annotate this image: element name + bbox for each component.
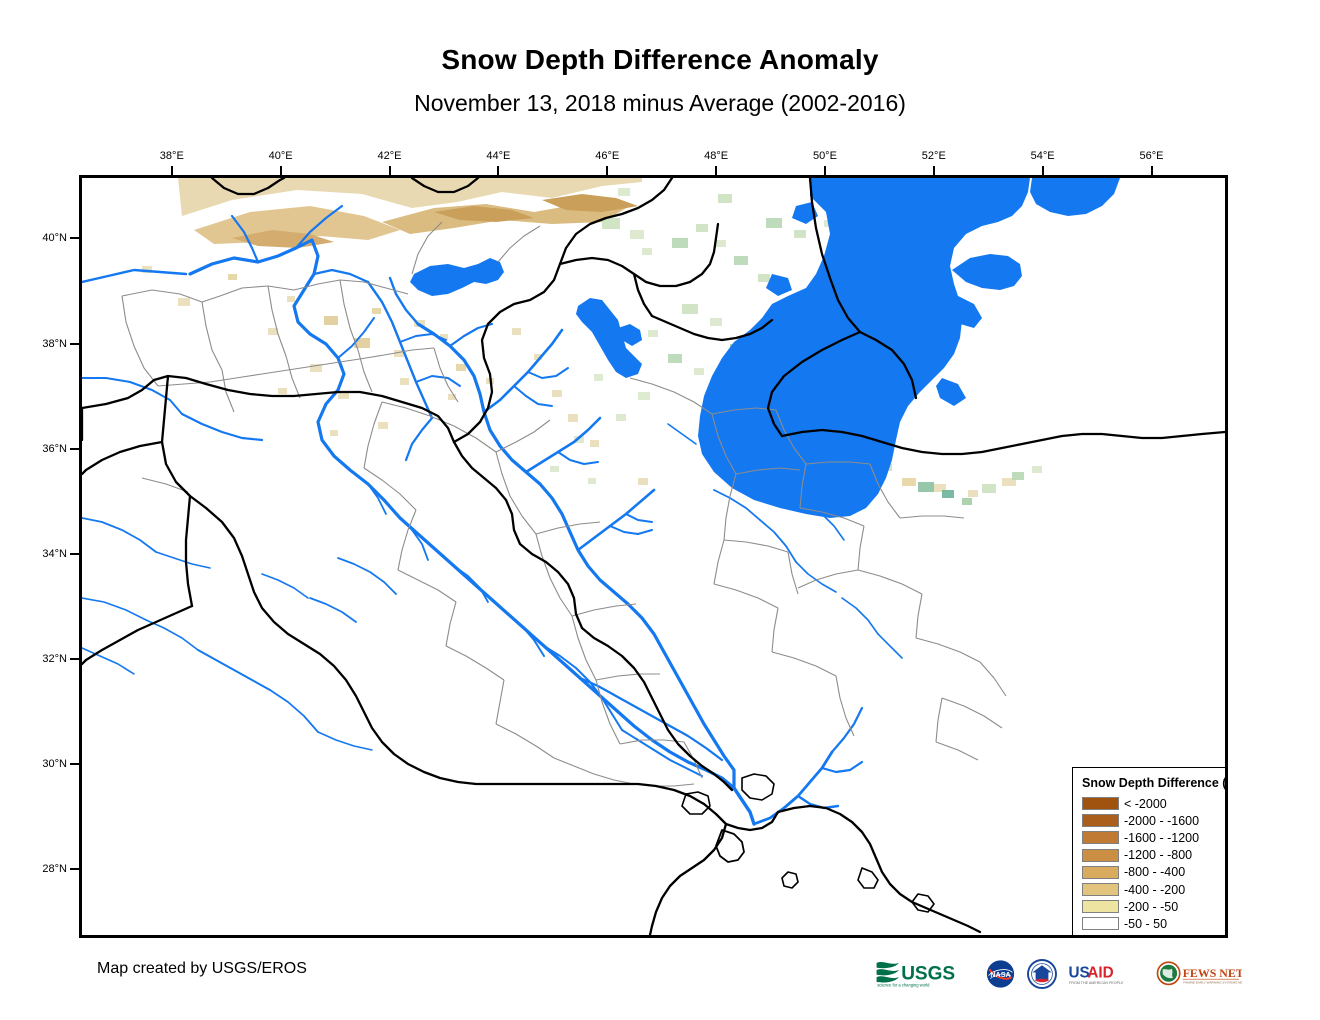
legend-swatch [1082,814,1119,827]
svg-text:NASA: NASA [990,970,1010,979]
longitude-label: 48°E [704,150,728,162]
latitude-label: 36°N [21,443,67,455]
legend-swatch [1082,849,1119,862]
longitude-label: 46°E [595,150,619,162]
legend-label: -800 - -400 [1124,865,1185,879]
nasa-logo[interactable]: NASA [984,958,1017,990]
latitude-tick [70,553,79,555]
longitude-tick [280,166,282,175]
map-canvas[interactable] [82,178,1225,935]
longitude-tick [171,166,173,175]
legend-label: 50 - 200 [1124,934,1170,938]
legend-label: < -2000 [1124,797,1167,811]
longitude-tick [1151,166,1153,175]
legend-title: Snow Depth Difference (mm) [1082,776,1228,790]
svg-text:USGS: USGS [901,964,955,985]
legend-row[interactable]: -800 - -400 [1082,864,1228,881]
usaid-logo[interactable]: US AID FROM THE AMERICAN PEOPLE [1067,958,1147,990]
latitude-label: 38°N [21,338,67,350]
legend-row[interactable]: 50 - 200 [1082,933,1228,939]
legend-row[interactable]: -2000 - -1600 [1082,812,1228,829]
logo-bar: USGS science for a changing world NASA U… [875,957,1242,991]
legend-label: -400 - -200 [1124,883,1185,897]
legend-row[interactable]: < -2000 [1082,795,1228,812]
map-frame[interactable]: Snow Depth Difference (mm) < -2000-2000 … [79,175,1228,938]
legend-label: -1200 - -800 [1124,848,1192,862]
latitude-tick [70,448,79,450]
longitude-label: 42°E [378,150,402,162]
legend-label: -1600 - -1200 [1124,831,1199,845]
longitude-label: 54°E [1031,150,1055,162]
svg-text:FAMINE EARLY WARNING SYSTEMS N: FAMINE EARLY WARNING SYSTEMS NETWORK [1183,981,1242,985]
legend-panel[interactable]: Snow Depth Difference (mm) < -2000-2000 … [1072,767,1228,938]
longitude-label: 44°E [486,150,510,162]
longitude-tick [606,166,608,175]
longitude-label: 56°E [1140,150,1164,162]
latitude-tick [70,237,79,239]
legend-row[interactable]: -50 - 50 [1082,915,1228,932]
footer-credit: Map created by USGS/EROS [97,960,307,978]
longitude-tick [933,166,935,175]
svg-text:FROM THE AMERICAN PEOPLE: FROM THE AMERICAN PEOPLE [1069,981,1124,985]
legend-row[interactable]: -1600 - -1200 [1082,829,1228,846]
legend-swatch [1082,917,1119,930]
svg-text:FEWS NET: FEWS NET [1183,966,1242,980]
latitude-tick [70,868,79,870]
svg-text:US: US [1068,965,1089,982]
legend-swatch [1082,831,1119,844]
legend-swatch [1082,935,1119,938]
svg-text:science for a changing world: science for a changing world [877,983,930,988]
svg-text:AID: AID [1087,965,1113,982]
latitude-label: 32°N [21,653,67,665]
legend-swatch [1082,900,1119,913]
longitude-label: 38°E [160,150,184,162]
page-subtitle: November 13, 2018 minus Average (2002-20… [0,76,1320,117]
longitude-label: 52°E [922,150,946,162]
title-block: Snow Depth Difference Anomaly November 1… [0,0,1320,117]
longitude-tick [1042,166,1044,175]
legend-swatch [1082,883,1119,896]
noaa-logo[interactable] [1026,958,1058,990]
legend-items: < -2000-2000 - -1600-1600 - -1200-1200 -… [1082,795,1228,938]
latitude-tick [70,343,79,345]
usgs-logo[interactable]: USGS science for a changing world [875,958,975,990]
legend-row[interactable]: -1200 - -800 [1082,847,1228,864]
legend-swatch [1082,797,1119,810]
longitude-label: 50°E [813,150,837,162]
longitude-tick [824,166,826,175]
latitude-label: 40°N [21,232,67,244]
legend-label: -50 - 50 [1124,917,1167,931]
latitude-tick [70,658,79,660]
legend-label: -200 - -50 [1124,900,1178,914]
longitude-label: 40°E [269,150,293,162]
legend-label: -2000 - -1600 [1124,814,1199,828]
fews-net-logo[interactable]: FEWS NET FAMINE EARLY WARNING SYSTEMS NE… [1156,958,1242,990]
latitude-label: 28°N [21,863,67,875]
legend-row[interactable]: -400 - -200 [1082,881,1228,898]
longitude-tick [715,166,717,175]
longitude-tick [389,166,391,175]
legend-swatch [1082,866,1119,879]
legend-row[interactable]: -200 - -50 [1082,898,1228,915]
latitude-tick [70,763,79,765]
latitude-label: 34°N [21,548,67,560]
longitude-tick [497,166,499,175]
page-title: Snow Depth Difference Anomaly [0,0,1320,76]
latitude-label: 30°N [21,758,67,770]
